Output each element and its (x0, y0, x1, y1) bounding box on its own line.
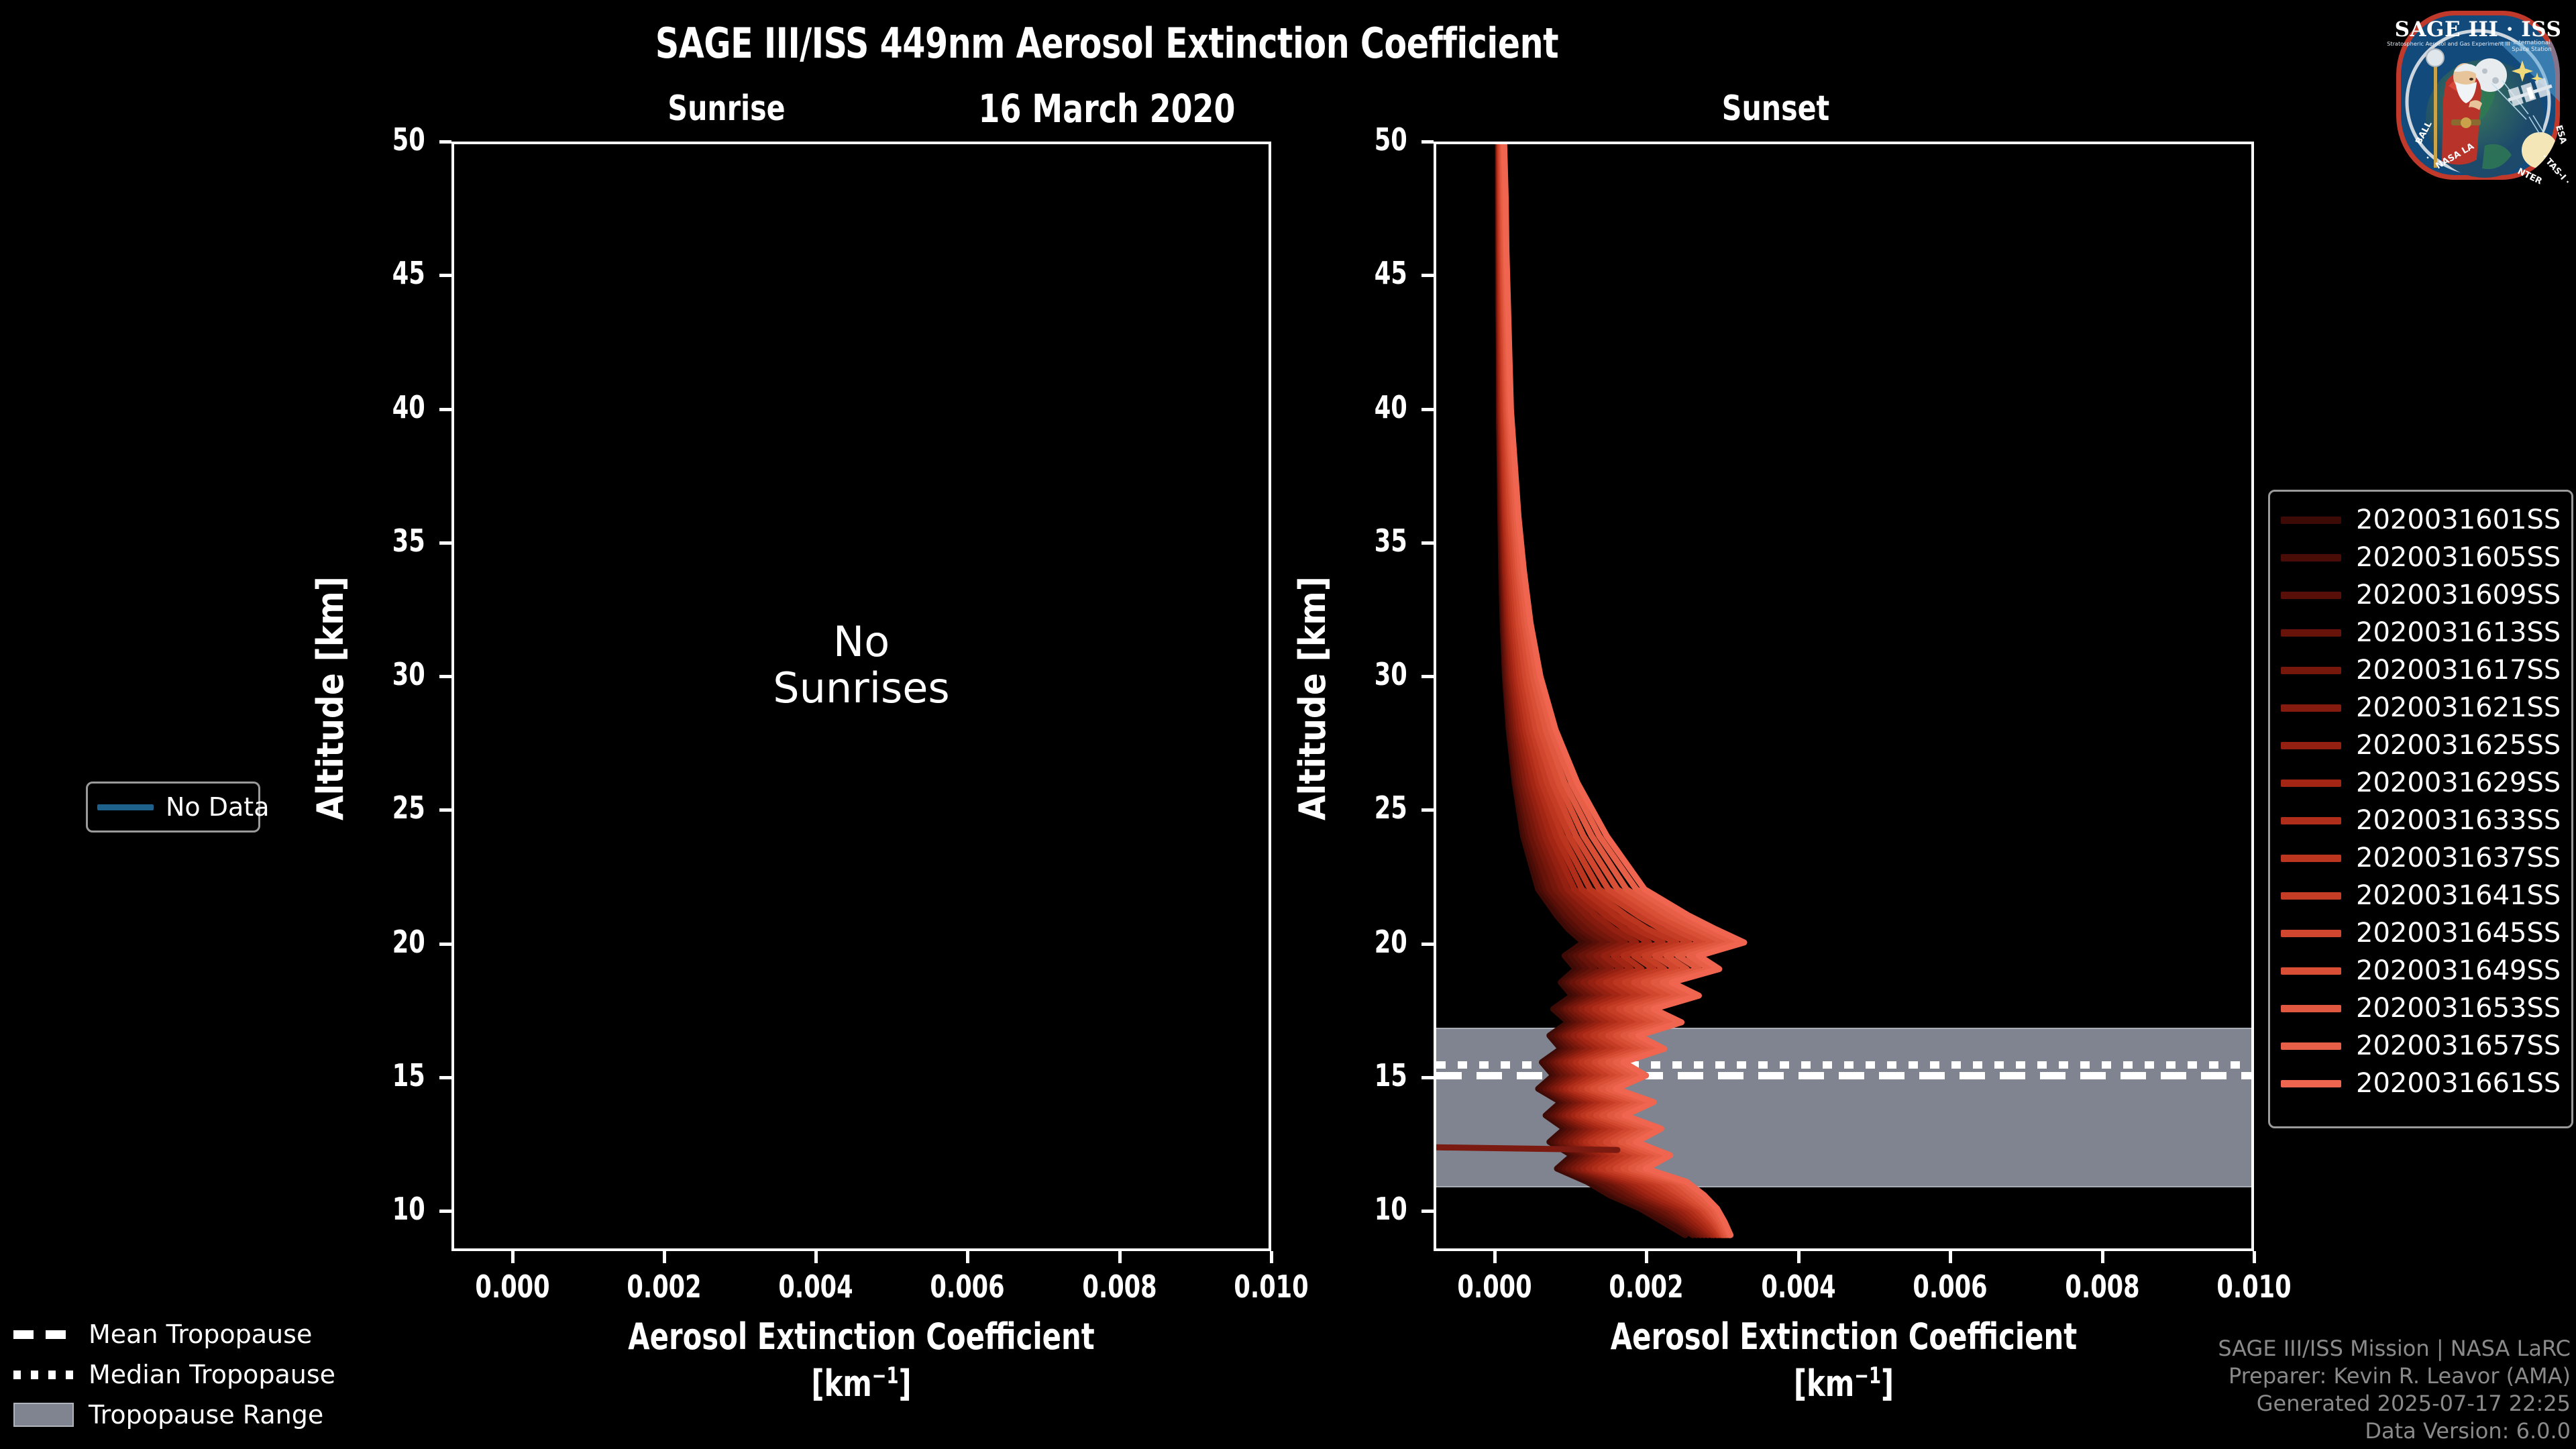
sunrise-ytick-label-10: 10 (339, 1191, 425, 1227)
sunrise-ytick-label-30: 30 (339, 656, 425, 692)
mean-tropopause-label: Mean Tropopause (89, 1320, 312, 1349)
sunrise-yaxis-title: Altitude [km] (309, 576, 352, 820)
legend-color-swatch-2020031625SS (2281, 742, 2341, 749)
sunrise-xtick-mark-4 (1118, 1251, 1122, 1263)
legend-label-2020031605SS: 2020031605SS (2356, 542, 2561, 573)
svg-text:ESA: ESA (2553, 124, 2568, 145)
credit-data-version: Data Version: 6.0.0 (2218, 1417, 2571, 1445)
legend-color-swatch-2020031621SS (2281, 704, 2341, 712)
sunrise-ytick-label-20: 20 (339, 924, 425, 960)
median-tropopause-label: Median Tropopause (89, 1360, 335, 1389)
sunrise-plot-area: No Sunrises (454, 144, 1269, 1248)
sunrise-xtick-label-5: 0.010 (1205, 1269, 1337, 1305)
credits-block: SAGE III/ISS Mission | NASA LaRC Prepare… (2218, 1335, 2571, 1445)
legend-item-no-data: No Data (88, 784, 258, 830)
legend-label-2020031661SS: 2020031661SS (2356, 1068, 2561, 1099)
panel-label-sunset: Sunset (1652, 89, 1900, 129)
sunset-ytick-label-10: 10 (1322, 1191, 1407, 1227)
sunrise-xtick-label-3: 0.006 (902, 1269, 1034, 1305)
legend-color-swatch-2020031609SS (2281, 592, 2341, 599)
legend-color-swatch-2020031613SS (2281, 629, 2341, 637)
sunset-xtick-mark-5 (2253, 1251, 2256, 1263)
sunset-xtick-mark-2 (1797, 1251, 1801, 1263)
legend-label-2020031637SS: 2020031637SS (2356, 843, 2561, 873)
legend-item-2020031617SS[interactable]: 2020031617SS (2270, 651, 2571, 689)
legend-item-2020031657SS[interactable]: 2020031657SS (2270, 1027, 2571, 1065)
page-title: SAGE III/ISS 449nm Aerosol Extinction Co… (133, 19, 2081, 68)
page-subtitle: 16 March 2020 (877, 86, 1337, 131)
sunset-xaxis-title: Aerosol Extinction Coefficient (1491, 1316, 2197, 1358)
svg-text:SAGE III · ISS: SAGE III · ISS (2395, 17, 2562, 42)
event-legend[interactable]: 2020031601SS2020031605SS2020031609SS2020… (2268, 490, 2573, 1128)
legend-item-2020031621SS[interactable]: 2020031621SS (2270, 689, 2571, 727)
tropopause-legend: Mean Tropopause Median Tropopause Tropop… (13, 1318, 335, 1439)
legend-label-2020031601SS: 2020031601SS (2356, 504, 2561, 535)
legend-item-2020031641SS[interactable]: 2020031641SS (2270, 877, 2571, 914)
median-tropopause-swatch (13, 1371, 74, 1379)
legend-item-2020031601SS[interactable]: 2020031601SS (2270, 501, 2571, 539)
sunrise-plot-axes: No Sunrises (451, 142, 1271, 1251)
legend-item-tropopause-range: Tropopause Range (13, 1399, 335, 1431)
legend-color-swatch-2020031629SS (2281, 780, 2341, 787)
legend-color-swatch-2020031637SS (2281, 855, 2341, 862)
no-data-color-swatch (97, 804, 154, 810)
legend-label-2020031649SS: 2020031649SS (2356, 955, 2561, 986)
legend-color-swatch-2020031617SS (2281, 667, 2341, 674)
legend-label-2020031613SS: 2020031613SS (2356, 617, 2561, 648)
sunset-xtick-label-1: 0.002 (1580, 1269, 1712, 1305)
sunrise-ytick-mark-10 (439, 1210, 451, 1213)
credit-preparer: Preparer: Kevin R. Leavor (AMA) (2218, 1362, 2571, 1390)
sunrise-ytick-label-35: 35 (339, 523, 425, 559)
sunset-xtick-label-0: 0.000 (1429, 1269, 1560, 1305)
sunrise-xtick-mark-3 (966, 1251, 969, 1263)
sunset-ytick-mark-40 (1421, 408, 1434, 411)
sunset-xtick-label-4: 0.008 (2037, 1269, 2168, 1305)
sunset-ytick-label-35: 35 (1322, 523, 1407, 559)
sunset-ytick-label-45: 45 (1322, 255, 1407, 291)
sunrise-xtick-mark-2 (814, 1251, 818, 1263)
sunrise-ytick-label-15: 15 (339, 1057, 425, 1093)
svg-text:International: International (2514, 40, 2551, 46)
legend-label-2020031609SS: 2020031609SS (2356, 580, 2561, 610)
legend-label-2020031633SS: 2020031633SS (2356, 805, 2561, 836)
legend-item-2020031605SS[interactable]: 2020031605SS (2270, 539, 2571, 576)
sunset-ytick-label-15: 15 (1322, 1057, 1407, 1093)
svg-text:Space Station: Space Station (2512, 46, 2551, 53)
mean-tropopause-swatch (13, 1330, 74, 1339)
sunset-xtick-label-5: 0.010 (2188, 1269, 2320, 1305)
sunrise-ytick-mark-25 (439, 808, 451, 812)
credit-generated: Generated 2025-07-17 22:25 (2218, 1390, 2571, 1417)
sunrise-xtick-mark-1 (663, 1251, 666, 1263)
sunset-ytick-mark-10 (1421, 1210, 1434, 1213)
sunset-xtick-mark-1 (1645, 1251, 1648, 1263)
sunrise-xtick-mark-5 (1270, 1251, 1273, 1263)
sunrise-ytick-mark-35 (439, 541, 451, 545)
legend-label-2020031641SS: 2020031641SS (2356, 880, 2561, 911)
sunset-ytick-mark-25 (1421, 808, 1434, 812)
sunrise-ytick-label-45: 45 (339, 255, 425, 291)
sunset-xtick-mark-3 (1949, 1251, 1952, 1263)
sunrise-ytick-mark-15 (439, 1076, 451, 1079)
plot-canvas: SAGE III/ISS 449nm Aerosol Extinction Co… (0, 0, 2576, 1449)
sunset-ytick-label-25: 25 (1322, 790, 1407, 826)
sunrise-xtick-label-1: 0.002 (598, 1269, 730, 1305)
legend-item-mean-tropopause: Mean Tropopause (13, 1318, 335, 1350)
legend-color-swatch-2020031661SS (2281, 1080, 2341, 1087)
svg-text:Stratospheric Aerosol and Gas: Stratospheric Aerosol and Gas Experiment… (2387, 40, 2510, 47)
legend-item-2020031609SS[interactable]: 2020031609SS (2270, 576, 2571, 614)
legend-label-2020031653SS: 2020031653SS (2356, 993, 2561, 1024)
sunrise-xtick-label-0: 0.000 (447, 1269, 578, 1305)
sunset-ytick-mark-35 (1421, 541, 1434, 545)
legend-color-swatch-2020031641SS (2281, 892, 2341, 900)
sunrise-xaxis-title: Aerosol Extinction Coefficient (509, 1316, 1214, 1358)
credit-mission: SAGE III/ISS Mission | NASA LaRC (2218, 1335, 2571, 1362)
sunset-ytick-mark-20 (1421, 943, 1434, 946)
legend-item-2020031629SS[interactable]: 2020031629SS (2270, 764, 2571, 802)
legend-label-2020031645SS: 2020031645SS (2356, 918, 2561, 949)
legend-item-2020031661SS[interactable]: 2020031661SS (2270, 1065, 2571, 1102)
sunrise-ytick-mark-30 (439, 675, 451, 678)
legend-item-2020031613SS[interactable]: 2020031613SS (2270, 614, 2571, 651)
sunset-ytick-label-20: 20 (1322, 924, 1407, 960)
legend-item-2020031633SS[interactable]: 2020031633SS (2270, 802, 2571, 839)
sunset-ytick-label-40: 40 (1322, 389, 1407, 425)
svg-text:· TAS-I ·: · TAS-I · (2539, 152, 2572, 187)
legend-label-2020031625SS: 2020031625SS (2356, 730, 2561, 761)
sunrise-ytick-label-40: 40 (339, 389, 425, 425)
sunset-xtick-mark-0 (1493, 1251, 1497, 1263)
sunset-xaxis-unit: [km−1] (1491, 1362, 2197, 1405)
legend-color-swatch-2020031649SS (2281, 967, 2341, 975)
panel-label-sunrise: Sunrise (602, 89, 851, 129)
legend-color-swatch-2020031657SS (2281, 1042, 2341, 1050)
sunrise-ytick-mark-40 (439, 408, 451, 411)
no-data-legend[interactable]: No Data (86, 782, 260, 833)
legend-item-2020031645SS[interactable]: 2020031645SS (2270, 914, 2571, 952)
sunrise-ytick-label-50: 50 (339, 121, 425, 158)
tropopause-range-swatch (13, 1403, 74, 1427)
legend-label-2020031621SS: 2020031621SS (2356, 692, 2561, 723)
profile-line-stub (1436, 1147, 1617, 1150)
sunset-ytick-mark-50 (1421, 140, 1434, 144)
sunset-ytick-mark-30 (1421, 675, 1434, 678)
sunset-ytick-mark-45 (1421, 274, 1434, 277)
sunset-xtick-mark-4 (2101, 1251, 2104, 1263)
legend-label-2020031657SS: 2020031657SS (2356, 1030, 2561, 1061)
tropopause-range-label: Tropopause Range (89, 1400, 323, 1430)
legend-item-2020031637SS[interactable]: 2020031637SS (2270, 839, 2571, 877)
legend-item-2020031649SS[interactable]: 2020031649SS (2270, 952, 2571, 989)
legend-color-swatch-2020031605SS (2281, 554, 2341, 561)
sunrise-ytick-mark-20 (439, 943, 451, 946)
sage-iii-iss-logo-icon: SAGE III · ISS Stratospheric Aerosol and… (2384, 1, 2572, 189)
sunrise-xaxis-unit: [km−1] (509, 1362, 1214, 1405)
sunrise-xtick-mark-0 (511, 1251, 515, 1263)
sunset-plot-axes (1434, 142, 2254, 1251)
legend-label-2020031629SS: 2020031629SS (2356, 767, 2561, 798)
legend-color-swatch-2020031633SS (2281, 817, 2341, 824)
legend-color-swatch-2020031645SS (2281, 930, 2341, 937)
sunset-yaxis-title: Altitude [km] (1291, 576, 1334, 820)
no-sunrises-message: No Sunrises (454, 619, 1269, 712)
sunrise-ytick-mark-45 (439, 274, 451, 277)
legend-item-2020031653SS[interactable]: 2020031653SS (2270, 989, 2571, 1027)
sunset-xtick-label-2: 0.004 (1733, 1269, 1864, 1305)
sunrise-xtick-label-4: 0.008 (1054, 1269, 1185, 1305)
sunset-ytick-mark-15 (1421, 1076, 1434, 1079)
no-data-label: No Data (166, 792, 270, 822)
legend-item-median-tropopause: Median Tropopause (13, 1358, 335, 1391)
legend-item-2020031625SS[interactable]: 2020031625SS (2270, 727, 2571, 764)
legend-color-swatch-2020031601SS (2281, 517, 2341, 524)
sunrise-ytick-mark-50 (439, 140, 451, 144)
sunrise-ytick-label-25: 25 (339, 790, 425, 826)
legend-label-2020031617SS: 2020031617SS (2356, 655, 2561, 686)
sunset-plot-area (1436, 144, 2251, 1248)
sunrise-xtick-label-2: 0.004 (750, 1269, 881, 1305)
sunset-ytick-label-30: 30 (1322, 656, 1407, 692)
legend-color-swatch-2020031653SS (2281, 1005, 2341, 1012)
sunset-xtick-label-3: 0.006 (1884, 1269, 2016, 1305)
extinction-profiles (1436, 144, 2251, 1248)
sunset-ytick-label-50: 50 (1322, 121, 1407, 158)
